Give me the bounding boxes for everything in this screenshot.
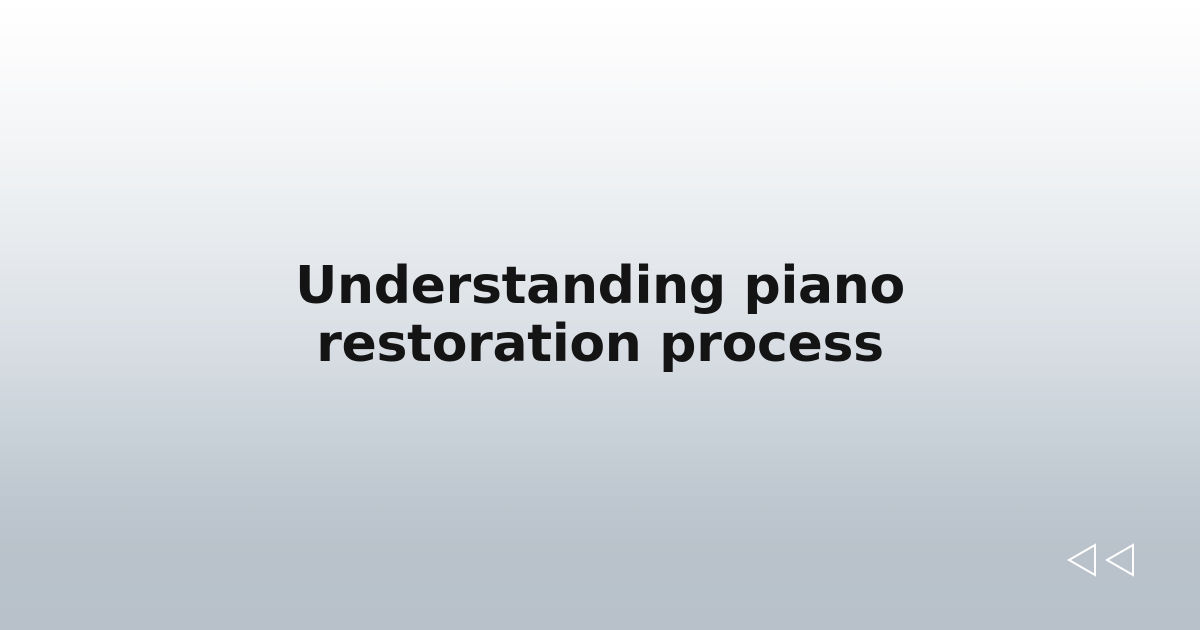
slide-card: Understanding piano restoration process [0,0,1200,630]
page-title: Understanding piano restoration process [180,257,1020,373]
headline-block: Understanding piano restoration process [0,0,1200,630]
triangle-left-outline-icon [1066,542,1100,578]
rewind-arrow-1-button[interactable] [1066,542,1100,578]
triangle-left-outline-icon [1104,542,1138,578]
rewind-arrow-2-button[interactable] [1104,542,1138,578]
playback-controls [1066,541,1140,579]
